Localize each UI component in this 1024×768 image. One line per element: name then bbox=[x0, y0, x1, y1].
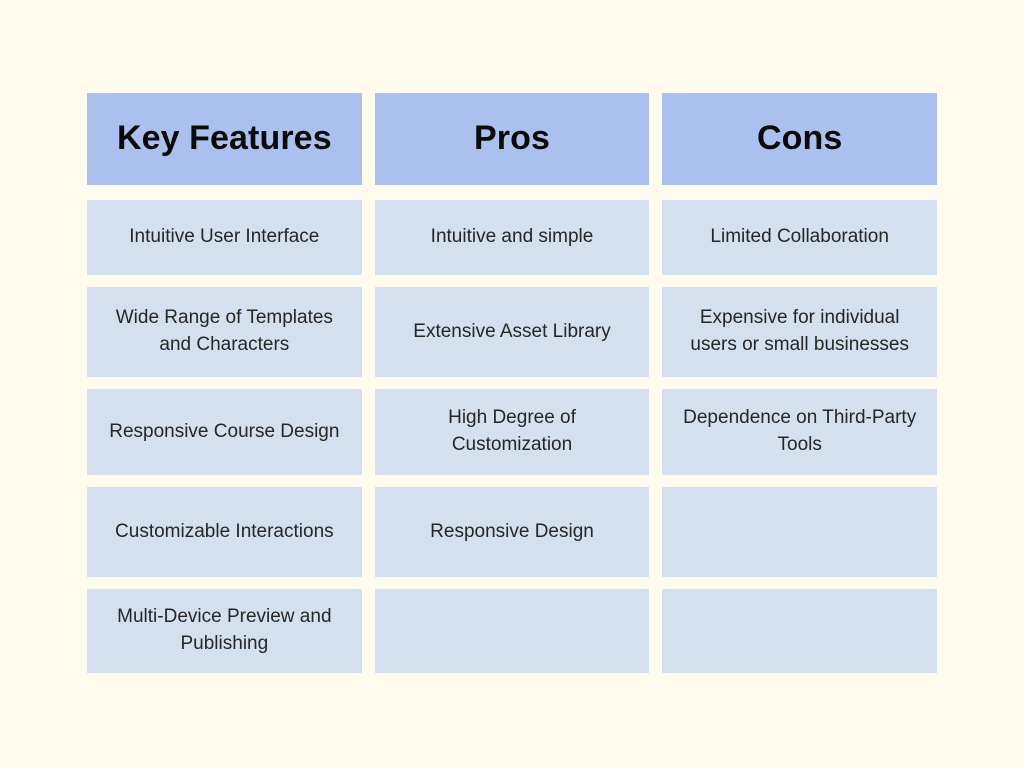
table-cell: Responsive Course Design bbox=[87, 389, 362, 475]
table-cell: Intuitive and simple bbox=[375, 200, 650, 275]
table-cell-empty bbox=[662, 589, 937, 673]
table-cell-text: Wide Range of Templates and Characters bbox=[101, 305, 348, 359]
table-row: Multi-Device Preview and Publishing bbox=[87, 589, 937, 673]
table-cell: Multi-Device Preview and Publishing bbox=[87, 589, 362, 673]
table-cell-text: Responsive Design bbox=[430, 519, 594, 546]
table-cell-text: Intuitive User Interface bbox=[129, 224, 319, 251]
table-header-cons: Cons bbox=[662, 93, 937, 185]
comparison-table: Key Features Pros Cons Intuitive User In… bbox=[87, 93, 937, 685]
table-row: Intuitive User Interface Intuitive and s… bbox=[87, 200, 937, 275]
table-cell: Intuitive User Interface bbox=[87, 200, 362, 275]
table-cell-text: High Degree of Customization bbox=[389, 405, 636, 459]
table-cell-text: Intuitive and simple bbox=[431, 224, 594, 251]
table-cell: High Degree of Customization bbox=[375, 389, 650, 475]
table-cell-empty bbox=[662, 487, 937, 577]
table-header-label: Key Features bbox=[117, 119, 332, 158]
table-cell-text: Limited Collaboration bbox=[710, 224, 889, 251]
table-cell-text: Customizable Interactions bbox=[115, 519, 334, 546]
table-cell: Responsive Design bbox=[375, 487, 650, 577]
table-row: Wide Range of Templates and Characters E… bbox=[87, 287, 937, 377]
table-row: Responsive Course Design High Degree of … bbox=[87, 389, 937, 475]
table-header-label: Cons bbox=[757, 119, 842, 158]
table-cell: Limited Collaboration bbox=[662, 200, 937, 275]
table-header-key-features: Key Features bbox=[87, 93, 362, 185]
table-cell: Wide Range of Templates and Characters bbox=[87, 287, 362, 377]
table-header-pros: Pros bbox=[375, 93, 650, 185]
table-cell: Dependence on Third-Party Tools bbox=[662, 389, 937, 475]
table-cell-empty bbox=[375, 589, 650, 673]
table-header-label: Pros bbox=[474, 119, 550, 158]
table-row: Customizable Interactions Responsive Des… bbox=[87, 487, 937, 577]
table-cell: Customizable Interactions bbox=[87, 487, 362, 577]
table-cell-text: Responsive Course Design bbox=[109, 419, 339, 446]
table-cell: Extensive Asset Library bbox=[375, 287, 650, 377]
table-cell: Expensive for individual users or small … bbox=[662, 287, 937, 377]
table-cell-text: Multi-Device Preview and Publishing bbox=[101, 604, 348, 658]
table-header-row: Key Features Pros Cons bbox=[87, 93, 937, 185]
table-cell-text: Dependence on Third-Party Tools bbox=[676, 405, 923, 459]
table-cell-text: Extensive Asset Library bbox=[413, 319, 610, 346]
table-cell-text: Expensive for individual users or small … bbox=[676, 305, 923, 359]
